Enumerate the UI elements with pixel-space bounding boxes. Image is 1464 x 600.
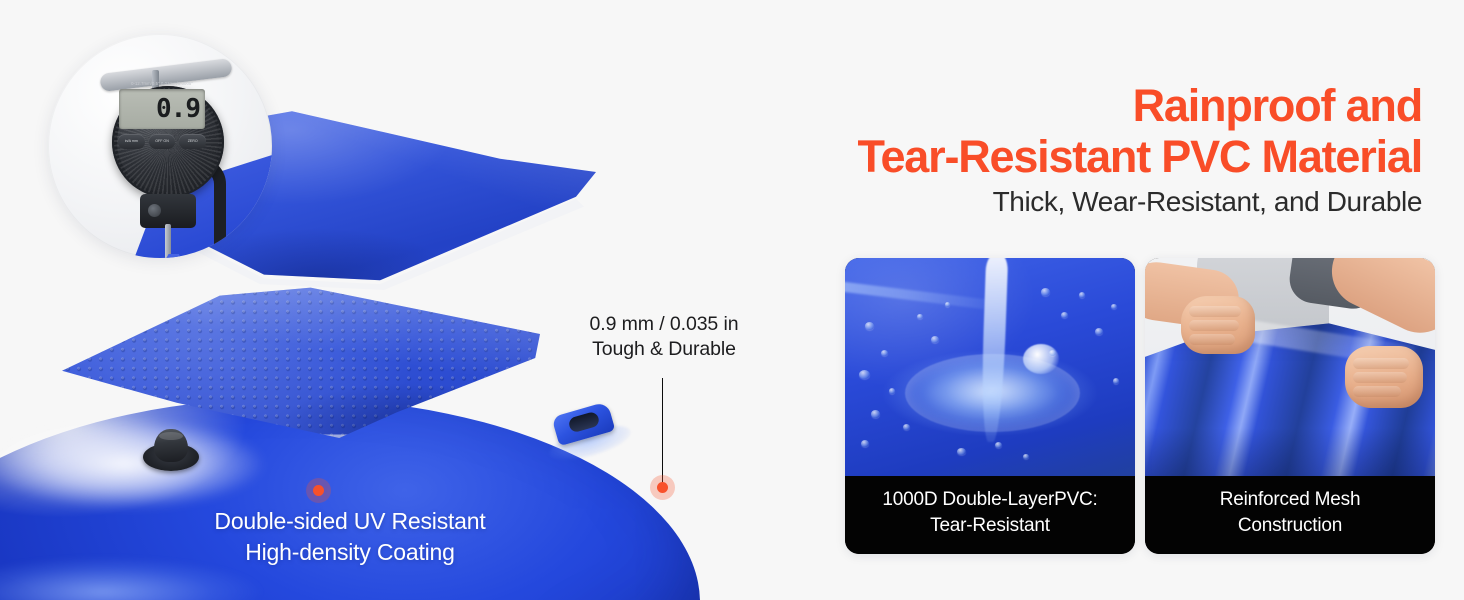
feature-card-caption: 1000D Double-LayerPVC: Tear-Resistant [845, 476, 1135, 554]
water-pouring-on-pvc-photo [845, 258, 1135, 476]
callout-leader-line [662, 378, 663, 488]
hotspot-marker-thickness [657, 482, 668, 493]
hotspot-marker-coating [313, 485, 324, 496]
feature-card-caption: Reinforced Mesh Construction [1145, 476, 1435, 554]
gauge-lcd-screen: 0.9 [119, 89, 205, 129]
gauge-button-zero[interactable]: ZERO [179, 134, 206, 149]
gauge-button-unit[interactable]: in/A mm [118, 134, 145, 149]
gauge-measuring-spindle [165, 224, 171, 258]
card-caption-line2: Construction [1153, 513, 1427, 539]
product-illustration-panel: 0-12.7mm/0.5" 0.01mm/0.0005" 0.9 in/A mm… [0, 0, 790, 600]
feature-card-row: 1000D Double-LayerPVC: Tear-Resistant [845, 258, 1435, 554]
gauge-button-row[interactable]: in/A mm OFF ON ZERO [118, 134, 206, 149]
headline-line2: Tear-Resistant PVC Material [782, 131, 1422, 182]
hands-stretching-pvc-photo [1145, 258, 1435, 476]
thickness-measurement: 0.9 mm / 0.035 in [576, 312, 752, 337]
thickness-callout: 0.9 mm / 0.035 in Tough & Durable [576, 312, 752, 362]
water-droplets [845, 258, 1135, 476]
gauge-neck-clamp [140, 194, 196, 228]
subheadline: Thick, Wear-Resistant, and Durable [782, 186, 1422, 218]
feature-card[interactable]: Reinforced Mesh Construction [1145, 258, 1435, 554]
thickness-descriptor: Tough & Durable [576, 337, 752, 362]
left-hand-grip [1181, 296, 1255, 354]
carry-strap-loop [551, 400, 622, 457]
product-feature-banner: 0-12.7mm/0.5" 0.01mm/0.0005" 0.9 in/A mm… [0, 0, 1464, 600]
right-hand-grip [1345, 346, 1423, 408]
feature-card[interactable]: 1000D Double-LayerPVC: Tear-Resistant [845, 258, 1135, 554]
gauge-reading-value: 0.9 [156, 96, 200, 122]
marketing-copy-panel: Rainproof and Tear-Resistant PVC Materia… [760, 0, 1464, 600]
product-coating-caption: Double-sided UV Resistant High-density C… [110, 506, 590, 568]
gauge-spec-label: 0-12.7mm/0.5" 0.01mm/0.0005" [120, 80, 204, 88]
digital-thickness-gauge: 0-12.7mm/0.5" 0.01mm/0.0005" 0.9 in/A mm… [106, 62, 234, 242]
photo-hands-base [1145, 258, 1435, 476]
card-caption-line2: Tear-Resistant [853, 513, 1127, 539]
air-valve-cap [143, 429, 199, 473]
headline-line1: Rainproof and [1133, 80, 1422, 131]
micrometer-macro-inset: 0-12.7mm/0.5" 0.01mm/0.0005" 0.9 in/A mm… [48, 34, 272, 258]
gauge-button-power[interactable]: OFF ON [149, 134, 176, 149]
card-caption-line1: Reinforced Mesh [1153, 487, 1427, 513]
coating-caption-line1: Double-sided UV Resistant [110, 506, 590, 537]
headline: Rainproof and Tear-Resistant PVC Materia… [782, 80, 1422, 182]
card-caption-line1: 1000D Double-LayerPVC: [853, 487, 1127, 513]
pvc-lower-shadow [1145, 428, 1435, 476]
valve-cap-top [154, 429, 188, 462]
coating-caption-line2: High-density Coating [110, 537, 590, 568]
